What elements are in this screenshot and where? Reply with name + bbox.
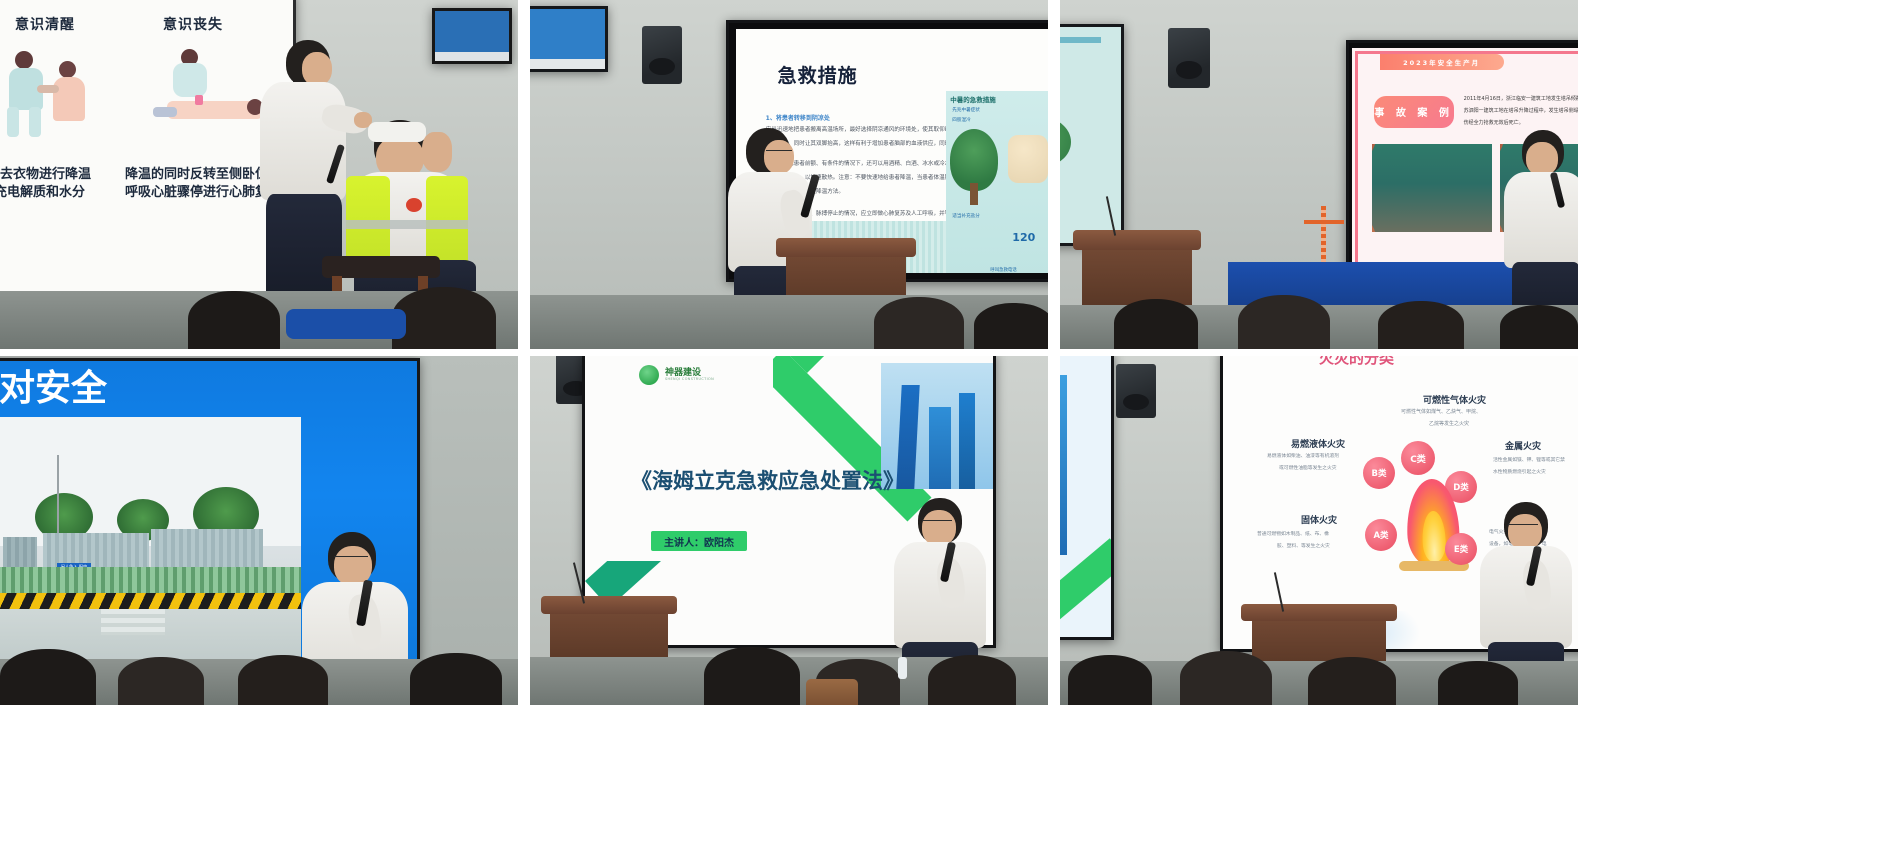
slide4-site-photo: 闲人免入 配电重地 当心触电 (0, 417, 301, 662)
trainer-face (302, 52, 332, 86)
slide1-caption-left-line2: 补充电解质和水分 (0, 181, 85, 200)
audience-head (1438, 661, 1518, 705)
panel-1-heatstroke-demo: 意识清醒 意识丧失 (0, 0, 518, 349)
slide6-badge-b: B类 (1363, 457, 1395, 489)
adjacent-screen-sliver (1060, 24, 1124, 246)
slide6-label-a: 固体火灾 (1301, 513, 1337, 526)
ceiling-speaker (1116, 364, 1156, 418)
slide3-ribbon: 2023年安全生产月 (1380, 54, 1504, 70)
flame-core (1421, 510, 1447, 562)
podium-top (1073, 230, 1201, 250)
slide6-desc-d: 活性金属如镁、钾、锂等或其它禁 (1493, 457, 1565, 464)
audience-head (188, 291, 280, 349)
presenter-face (922, 510, 956, 546)
panel-3-accident-case: 2023年安全生产月 事 故 案 例 2011年4月16日，浙江临安一建筑工地发… (1060, 0, 1578, 349)
adjacent-screen-sliver (1060, 356, 1114, 640)
podium-top (1241, 604, 1396, 621)
audience-head (1180, 651, 1272, 705)
slide6-desc-b: 易燃液体如柴油、油漆等有机溶剂 (1267, 453, 1339, 460)
audience-head (1114, 299, 1198, 349)
eyeglasses-icon (766, 150, 792, 155)
audience-head (1500, 305, 1578, 349)
company-logo-badge (406, 198, 422, 212)
slide3-case-line: 苏泗阳一建筑工地在塔吊升降过程中，发生塔吊侧塌事故，现场3人死亡，2人重 (1464, 108, 1578, 116)
presenter-face (1526, 142, 1558, 176)
slide6-header-partial: 火灾的分类 (1319, 356, 1394, 368)
slide6-label-d: 金属火灾 (1505, 439, 1541, 452)
slide5-speaker-pill: 主讲人：欧阳杰 (651, 531, 747, 551)
slide2-section-heading: 1、将患者转移到阴凉处 (766, 113, 830, 122)
audience-head (392, 287, 496, 349)
slide1-heading-conscious: 意识清醒 (15, 14, 75, 34)
company-logo-subtext: SHENQI CONSTRUCTION (665, 377, 714, 381)
stage-floor (530, 295, 1048, 349)
eyeglasses-icon (922, 520, 952, 525)
slide6-badge-e: E类 (1445, 533, 1477, 565)
audience-head (0, 649, 96, 705)
eyeglasses-icon (1508, 524, 1538, 529)
audience-head (410, 653, 502, 705)
slide2-sidebar-bullet: 先兆中暑症状 (952, 107, 980, 113)
audience-head (704, 647, 800, 705)
podium-top (776, 238, 915, 257)
slide1-heading-unconscious: 意识丧失 (163, 14, 223, 34)
slide2-sidebar-number: 120 (1012, 231, 1035, 244)
patient-hand-on-head (422, 132, 452, 172)
slide1-caption-left-line1: 脱去衣物进行降温 (0, 163, 91, 182)
wall-monitor-2 (530, 6, 608, 72)
presenter-face (1508, 514, 1542, 550)
first-aid-figure (1008, 135, 1048, 183)
slide2-title: 急救措施 (778, 61, 858, 88)
audience-head (1238, 295, 1330, 349)
slide6-label-c: 可燃性气体火灾 (1423, 393, 1486, 406)
slide2-sidebar-bullet: 呼叫急救电话 (990, 267, 1016, 272)
eyeglasses-icon (334, 556, 368, 562)
wall-monitor-1 (432, 8, 512, 64)
slide6-desc-c: 可燃性气体如煤气、乙炔气、甲烷、 (1401, 409, 1481, 417)
blue-cloth (286, 309, 406, 339)
seat-back (806, 679, 858, 705)
slide2-sidebar-infographic: 中暑的急救措施 先兆中暑症状 四肢湿冷 适当补充盐分 120 呼叫急救电话 (946, 91, 1048, 272)
slide2-sidebar-bullet: 四肢湿冷 (952, 117, 970, 123)
ceiling-speaker (1168, 28, 1210, 88)
audience-head (1308, 657, 1396, 705)
slide4-title-partial: 绝对安全 (0, 359, 107, 411)
vest-reflective-stripe (346, 220, 468, 229)
slide6-desc-a: 普通可燃物如木制品、纸、布、橡 (1257, 531, 1329, 538)
water-bottle (898, 657, 907, 679)
panel-5-heimlich-title: 神器建设 SHENQI CONSTRUCTION (530, 356, 1048, 705)
slide6-desc-c: 乙烷等发生之火灾 (1429, 421, 1469, 429)
tree-trunk (970, 183, 978, 205)
slide3-case-pill: 事 故 案 例 (1374, 96, 1454, 128)
slide6-label-b: 易燃液体火灾 (1291, 437, 1345, 450)
illustration-conscious (7, 45, 127, 145)
company-logo-mark (639, 365, 659, 385)
panel-6-fire-classification: 火灾的分类 可燃性气体火灾 可燃性气体如煤气、乙炔气、甲烷、 乙烷等发生之火灾 … (1060, 356, 1578, 705)
panel-2-first-aid-lecture: 急救措施 1、将患者转移到阴凉处 应当迅速地把患者搬离高温场所，最好选择阴凉通风… (530, 0, 1048, 349)
slide6-desc-b: 或可燃性油脂等发生之火灾 (1279, 465, 1337, 472)
podium-top (541, 596, 678, 614)
slide3-case-line: 伤经全力抢救无效后死亡。 (1464, 120, 1524, 128)
audience-head (874, 297, 964, 349)
tree-illustration (950, 129, 998, 191)
audience-head (118, 657, 204, 705)
presenter-face (764, 140, 794, 174)
presenter-shirt (1504, 172, 1578, 268)
slide3-accident-photo-left (1372, 144, 1492, 232)
photo-grid: 意识清醒 意识丧失 (0, 0, 1889, 866)
cooling-towel (368, 122, 426, 142)
slide3-case-line: 2011年4月16日，浙江临安一建筑工地发生塔吊倾覆事故造成5人死亡，同一天江 (1464, 96, 1578, 104)
slide5-title: 《海姆立克急救应急处置法》 (631, 465, 904, 495)
ceiling-speaker (642, 26, 682, 84)
slide6-desc-d: 水性物质燃烧引起之火灾 (1493, 469, 1546, 476)
slide6-badge-a: A类 (1365, 519, 1397, 551)
slide2-sidebar-bullet: 适当补充盐分 (952, 213, 980, 219)
slide6-desc-a: 胶、塑料、等发生之火灾 (1277, 543, 1330, 550)
panel-4-site-safety: 绝对安全 闲人免入 配电重地 当心触电 (0, 356, 518, 705)
audience-head (1068, 655, 1152, 705)
slide6-badge-c: C类 (1401, 441, 1435, 475)
audience-head (238, 655, 328, 705)
audience-head (1378, 301, 1464, 349)
slide2-sidebar-title: 中暑的急救措施 (950, 94, 996, 104)
audience-head (974, 303, 1048, 349)
audience-head (928, 655, 1016, 705)
